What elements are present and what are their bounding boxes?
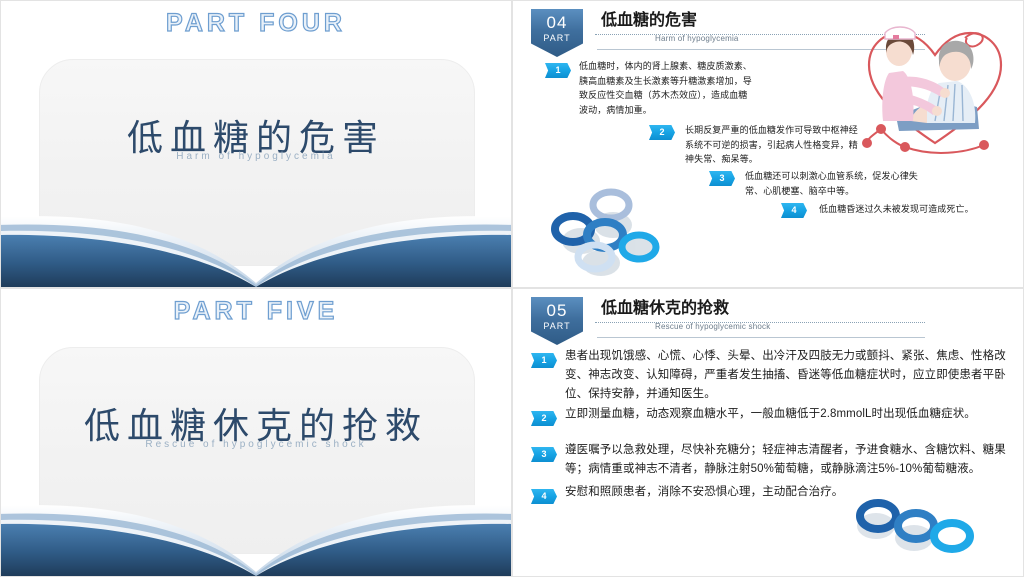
- slide-rescue-of-hypoglycemic-shock: 05 PART 低血糖休克的抢救 Rescue of hypoglycemic …: [512, 288, 1024, 577]
- item-text-1: 患者出现饥饿感、心慌、心悸、头晕、出冷汗及四肢无力或颤抖、紧张、焦虑、性格改变、…: [565, 347, 1015, 404]
- item-badge-4: 4: [781, 203, 807, 218]
- blue-rings-decoration: [541, 183, 666, 278]
- section-number-shield: 04 PART: [531, 9, 583, 57]
- header-text: 低血糖休克的抢救 Rescue of hypoglycemic shock: [595, 299, 925, 338]
- item-text-3: 遵医嘱予以急救处理，尽快补充糖分；轻症神志清醒者，予进食糖水、含糖饮料、糖果等；…: [565, 441, 1015, 479]
- nurse-and-elderly-patient-illustration: [853, 11, 1018, 161]
- item-badge-2: 2: [531, 411, 557, 426]
- item-badge-4: 4: [531, 489, 557, 504]
- header-solid-rule: [597, 336, 925, 338]
- section-number: 05: [531, 297, 583, 321]
- section-part-word: PART: [531, 321, 583, 332]
- slide-part-four: PART FOUR 低血糖的危害 Harm of hypoglycemia: [0, 0, 512, 288]
- item-text-2: 长期反复严重的低血糖发作可导致中枢神经系统不可逆的损害，引起病人性格变异，精神失…: [685, 123, 863, 167]
- item-text-2: 立即测量血糖，动态观察血糖水平，一般血糖低于2.8mmolL时出现低血糖症状。: [565, 405, 1015, 424]
- section-part-word: PART: [531, 33, 583, 44]
- header-title-en: Rescue of hypoglycemic shock: [655, 322, 770, 331]
- slide-deck: PART FOUR 低血糖的危害 Harm of hypoglycemia: [0, 0, 1024, 577]
- item-badge-1: 1: [545, 63, 571, 78]
- book-wave-decoration: [0, 195, 512, 287]
- item-badge-1: 1: [531, 353, 557, 368]
- book-wave-decoration: [0, 484, 512, 576]
- item-text-1: 低血糖时，体内的肾上腺素、糖皮质激素、胰高血糖素及生长激素等升糖激素增加，导致反…: [579, 59, 754, 117]
- blue-rings-decoration: [848, 494, 993, 564]
- slide-part-five: PART FIVE 低血糖休克的抢救 Rescue of hypoglycemi…: [0, 288, 512, 577]
- header-title-cn: 低血糖休克的抢救: [595, 299, 925, 319]
- item-badge-3: 3: [709, 171, 735, 186]
- item-text-3: 低血糖还可以刺激心血管系统，促发心律失常、心肌梗塞、脑卒中等。: [745, 169, 930, 198]
- section-number-shield: 05 PART: [531, 297, 583, 345]
- part-label: PART FOUR: [1, 9, 511, 38]
- header-title-en: Harm of hypoglycemia: [655, 34, 739, 43]
- part-label: PART FIVE: [1, 297, 511, 326]
- section-title-en: Rescue of hypoglycemic shock: [1, 439, 511, 450]
- section-title-en: Harm of hypoglycemia: [1, 151, 511, 162]
- item-text-4: 低血糖昏迷过久未被发现可造成死亡。: [819, 202, 1019, 217]
- section-number: 04: [531, 9, 583, 33]
- item-badge-3: 3: [531, 447, 557, 462]
- item-badge-2: 2: [649, 125, 675, 140]
- slide-harm-of-hypoglycemia: 04 PART 低血糖的危害 Harm of hypoglycemia 1 低血…: [512, 0, 1024, 288]
